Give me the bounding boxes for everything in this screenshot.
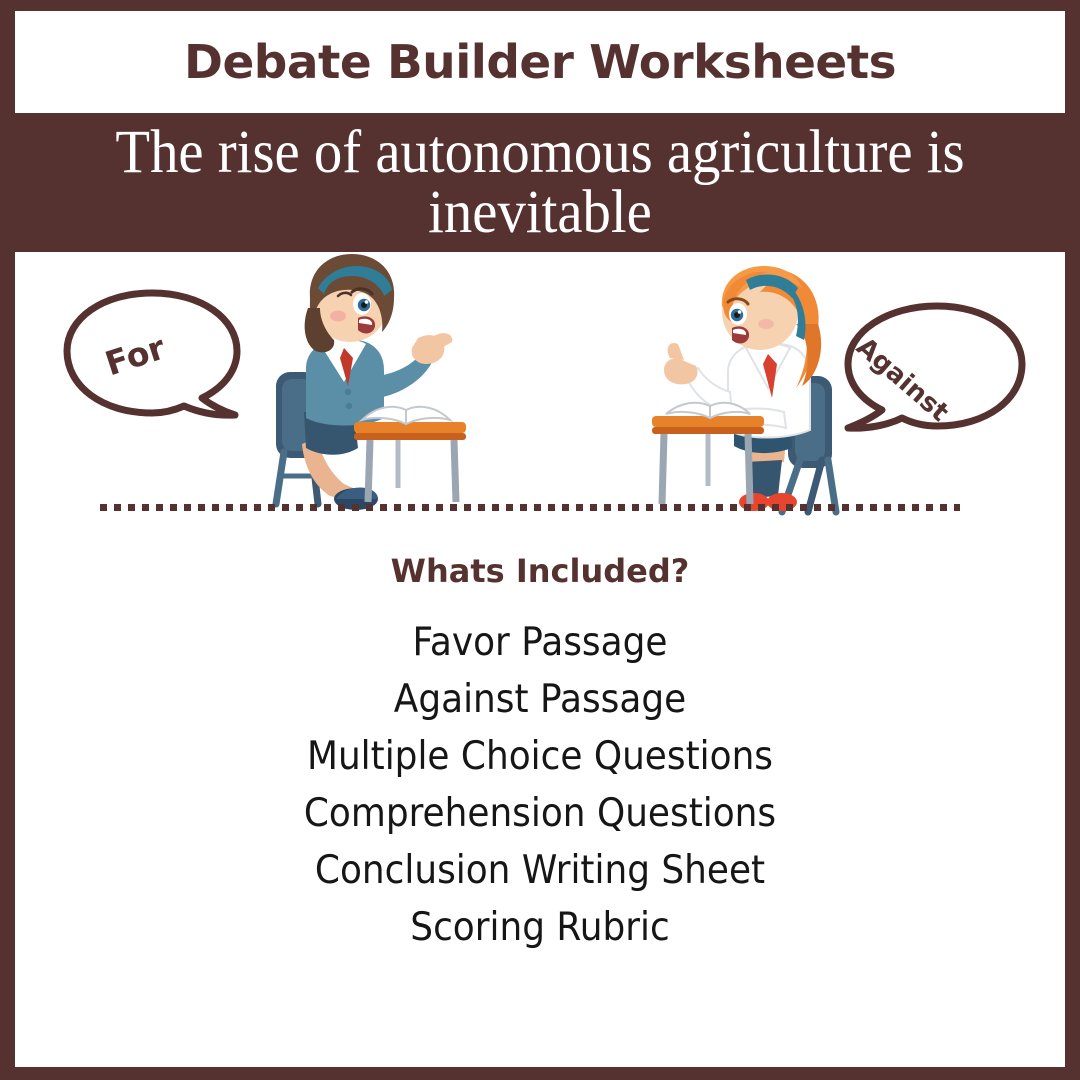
- dotted-divider: [100, 504, 960, 511]
- included-heading: Whats Included?: [15, 552, 1065, 590]
- list-item: Conclusion Writing Sheet: [57, 842, 1023, 899]
- list-item: Favor Passage: [57, 614, 1023, 671]
- speech-bubble-against: Against: [840, 300, 1028, 435]
- illustration-student-for: [258, 252, 468, 517]
- list-item: Against Passage: [57, 671, 1023, 728]
- subtitle-band: The rise of autonomous agriculture is in…: [15, 113, 1065, 252]
- speech-bubble-for: For: [61, 287, 243, 422]
- page-title: Debate Builder Worksheets: [184, 35, 896, 89]
- title-band: Debate Builder Worksheets: [15, 11, 1065, 113]
- list-item: Scoring Rubric: [57, 899, 1023, 956]
- list-item: Multiple Choice Questions: [57, 728, 1023, 785]
- list-item: Comprehension Questions: [57, 785, 1023, 842]
- poster-canvas: Debate Builder Worksheets The rise of au…: [0, 0, 1080, 1080]
- debate-topic-statement: The rise of autonomous agriculture is in…: [52, 123, 1029, 243]
- illustration-student-against: [650, 264, 860, 519]
- content-panel: For Against: [15, 252, 1065, 1067]
- included-list: Favor Passage Against Passage Multiple C…: [15, 614, 1065, 956]
